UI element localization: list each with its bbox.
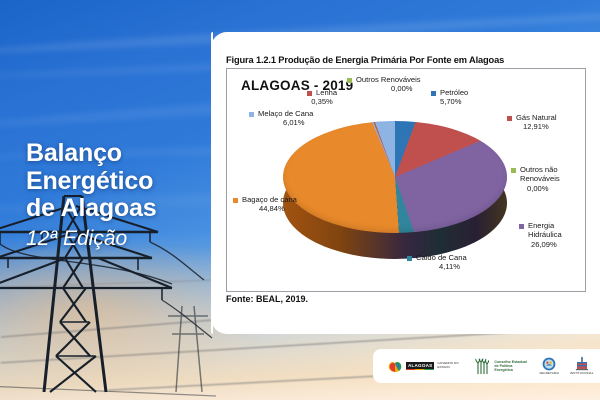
- alagoas-government-logo: ALAGOAS GOVERNO DO ESTADO: [387, 359, 463, 374]
- pie-value-outros-nao-renovaveis: 0,00%: [527, 184, 560, 193]
- cover-title-line-1: Balanço: [26, 140, 216, 168]
- pie-label-petroleo: Petróleo 5,70%: [431, 88, 468, 107]
- pie-value-outros-renovaveis: 0,00%: [383, 84, 421, 93]
- conselho-estadual-politica-energetica-logo: Conselho Estadual de Política Energética: [474, 358, 528, 375]
- alagoas-flag-strip: [406, 369, 434, 371]
- figure-panel: Figura 1.2.1 Produção de Energia Primári…: [211, 32, 600, 334]
- institutional-logo-caption: INSTITUCIONAL: [570, 372, 594, 376]
- pie-3d-top: [283, 121, 507, 233]
- logo-bar: ALAGOAS GOVERNO DO ESTADO Conselho Estad…: [373, 349, 600, 383]
- legend-marker-energia-hidraulica: [519, 224, 524, 229]
- pie-label-lenha: Lenha 0,35%: [307, 88, 337, 107]
- institutional-logo: INSTITUCIONAL: [570, 357, 594, 376]
- alagoas-wordmark: ALAGOAS: [406, 362, 434, 369]
- sugarcane-icon: [474, 358, 491, 375]
- cover-subtitle-edition: 12ª Edição: [26, 227, 216, 251]
- pie-value-energia-hidraulica: 26,09%: [531, 240, 562, 249]
- legend-marker-lenha: [307, 91, 312, 96]
- legend-marker-petroleo: [431, 91, 436, 96]
- pie-value-gas-natural: 12,91%: [523, 122, 557, 131]
- pie-label-outros-nao-renovaveis: Outros não Renováveis 0,00%: [511, 165, 560, 193]
- alagoas-mark-icon: [387, 359, 403, 374]
- conselho-logo-caption: Conselho Estadual de Política Energética: [494, 360, 528, 372]
- legend-marker-outros-renovaveis: [347, 78, 352, 83]
- pie-graphic: [283, 121, 507, 271]
- pie-value-lenha: 0,35%: [307, 97, 337, 106]
- pie-value-melaco-de-cana: 6,01%: [283, 118, 313, 127]
- pie-label-energia-hidraulica: Energia Hidráulica 26,09%: [519, 221, 562, 249]
- pie-label-outros-renovaveis: Outros Renováveis 0,00%: [347, 75, 421, 94]
- alagoas-logo-caption: GOVERNO DO ESTADO: [437, 362, 463, 369]
- pie-value-caldo-de-cana: 4,11%: [439, 262, 467, 271]
- legend-marker-melaco-de-cana: [249, 112, 254, 117]
- pie-value-bagaco-de-cana: 44,84%: [259, 204, 297, 213]
- institutional-building-icon: [575, 357, 589, 371]
- legend-marker-bagaco-de-cana: [233, 198, 238, 203]
- pie-label-melaco-de-cana: Melaço de Cana 6,01%: [249, 109, 313, 128]
- legend-marker-outros-nao-renovaveis: [511, 168, 516, 173]
- cover-title-block: Balanço Energético de Alagoas 12ª Edição: [26, 140, 216, 251]
- secretaria-logo: SECRETARIA: [539, 357, 559, 376]
- cover-title-line-2: Energético: [26, 168, 216, 196]
- figure-caption: Figura 1.2.1 Produção de Energia Primári…: [226, 55, 566, 65]
- cover-title-line-3: de Alagoas: [26, 195, 216, 223]
- legend-marker-caldo-de-cana: [407, 256, 412, 261]
- pie-label-gas-natural: Gás Natural 12,91%: [507, 113, 557, 132]
- secretaria-logo-caption: SECRETARIA: [539, 372, 559, 376]
- figure-source: Fonte: BEAL, 2019.: [226, 294, 308, 304]
- secretaria-seal-icon: [542, 357, 556, 371]
- pie-label-bagaco-de-cana: Bagaço de cana 44,84%: [233, 195, 297, 214]
- legend-marker-gas-natural: [507, 116, 512, 121]
- pie-value-petroleo: 5,70%: [440, 97, 468, 106]
- pie-chart: ALAGOAS - 2019 Outros Renováveis 0,00% L…: [226, 68, 586, 292]
- pie-label-caldo-de-cana: Caldo de Cana 4,11%: [407, 253, 467, 272]
